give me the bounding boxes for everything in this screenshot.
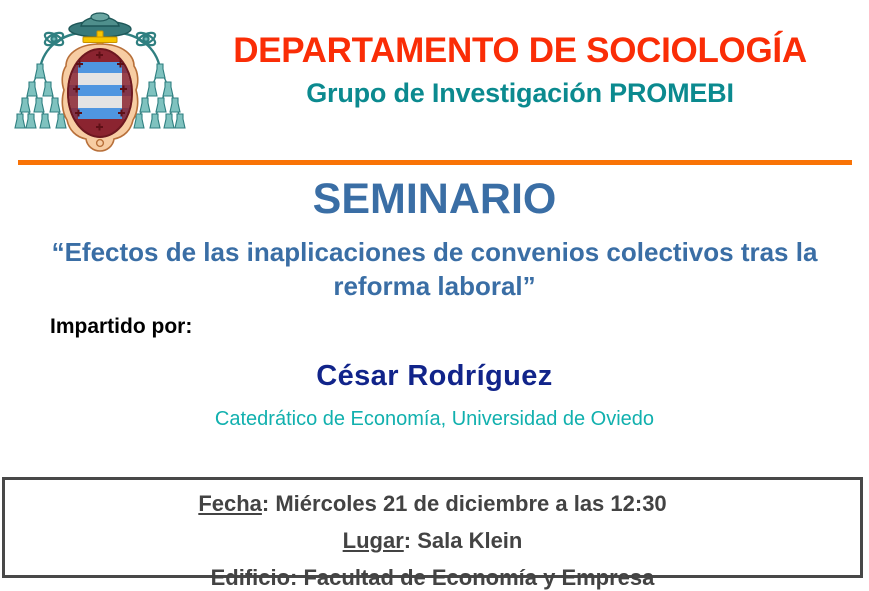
poster-body: SEMINARIO “Efectos de las inaplicaciones…: [0, 175, 869, 431]
event-details-box: Fecha: Miércoles 21 de diciembre a las 1…: [2, 477, 863, 578]
orange-horizontal-rule: [18, 160, 852, 165]
speaker-affiliation: Catedrático de Economía, Universidad de …: [0, 393, 869, 431]
event-venue-label: Lugar: [343, 528, 404, 553]
event-date-value: : Miércoles 21 de diciembre a las 12:30: [262, 491, 667, 516]
header-titles: DEPARTAMENTO DE SOCIOLOGÍA Grupo de Inve…: [190, 0, 850, 108]
speaker-name: César Rodríguez: [0, 339, 869, 393]
event-venue-line: Lugar: Sala Klein: [5, 515, 860, 552]
event-venue-value: : Sala Klein: [404, 528, 523, 553]
event-building-line: Edificio: Facultad de Economía y Empresa: [5, 552, 860, 589]
research-group-title: Grupo de Investigación PROMEBI: [190, 70, 850, 109]
page-title: SEMINARIO: [0, 175, 869, 223]
poster-header: DEPARTAMENTO DE SOCIOLOGÍA Grupo de Inve…: [0, 0, 869, 152]
event-date-line: Fecha: Miércoles 21 de diciembre a las 1…: [5, 480, 860, 515]
seminar-topic: “Efectos de las inaplicaciones de conven…: [0, 223, 869, 304]
header-divider: [0, 160, 869, 170]
university-of-oviedo-coat-of-arms-logo: [14, 6, 186, 154]
event-date-label: Fecha: [198, 491, 262, 516]
department-title: DEPARTAMENTO DE SOCIOLOGÍA: [190, 0, 850, 70]
presented-by-label: Impartido por:: [0, 304, 869, 339]
